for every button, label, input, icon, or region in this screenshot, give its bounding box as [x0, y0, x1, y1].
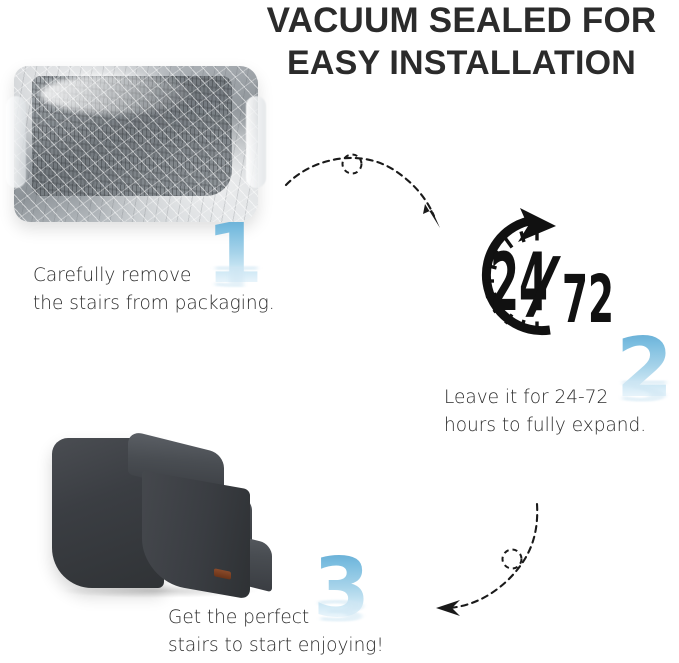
step-3-caption-line-1: Get the perfect: [168, 604, 384, 632]
plastic-bag: [14, 66, 258, 222]
step-1-caption-line-1: Carefully remove: [33, 262, 275, 290]
step-2-caption-line-1: Leave it for 24-72: [444, 384, 646, 412]
clock-label-72: 72: [562, 261, 614, 338]
page-title: VACUUM SEALED FOR EASY INSTALLATION: [244, 0, 679, 84]
dashed-arrow-step1-to-step2: [282, 140, 462, 240]
bag-seal-right: [246, 96, 266, 188]
step-1-caption-line-2: the stairs from packaging.: [33, 290, 275, 318]
plastic-highlight: [40, 74, 190, 114]
dashed-arrow-path-1: [286, 158, 434, 216]
step-2-caption-line-2: hours to fully expand.: [444, 412, 646, 440]
step-3-caption: Get the perfect stairs to start enjoying…: [168, 604, 384, 660]
page-title-line-2: EASY INSTALLATION: [244, 42, 679, 84]
step-2-caption: Leave it for 24-72 hours to fully expand…: [444, 384, 646, 440]
dashed-arrow-loop-2: [503, 550, 522, 569]
bag-seal-left: [6, 96, 26, 188]
infographic-page: VACUUM SEALED FOR EASY INSTALLATION 1 1 …: [0, 0, 679, 663]
page-title-line-1: VACUUM SEALED FOR: [244, 0, 679, 42]
step-3-caption-line-2: stairs to start enjoying!: [168, 632, 384, 660]
clock-24-72-icon: 24 / 72: [438, 206, 638, 346]
pet-stairs-photo: [42, 424, 280, 594]
step-1-caption: Carefully remove the stairs from packagi…: [33, 262, 275, 318]
dashed-arrow-path-2: [450, 504, 537, 608]
dashed-arrow-step2-to-step3: [420, 498, 600, 630]
